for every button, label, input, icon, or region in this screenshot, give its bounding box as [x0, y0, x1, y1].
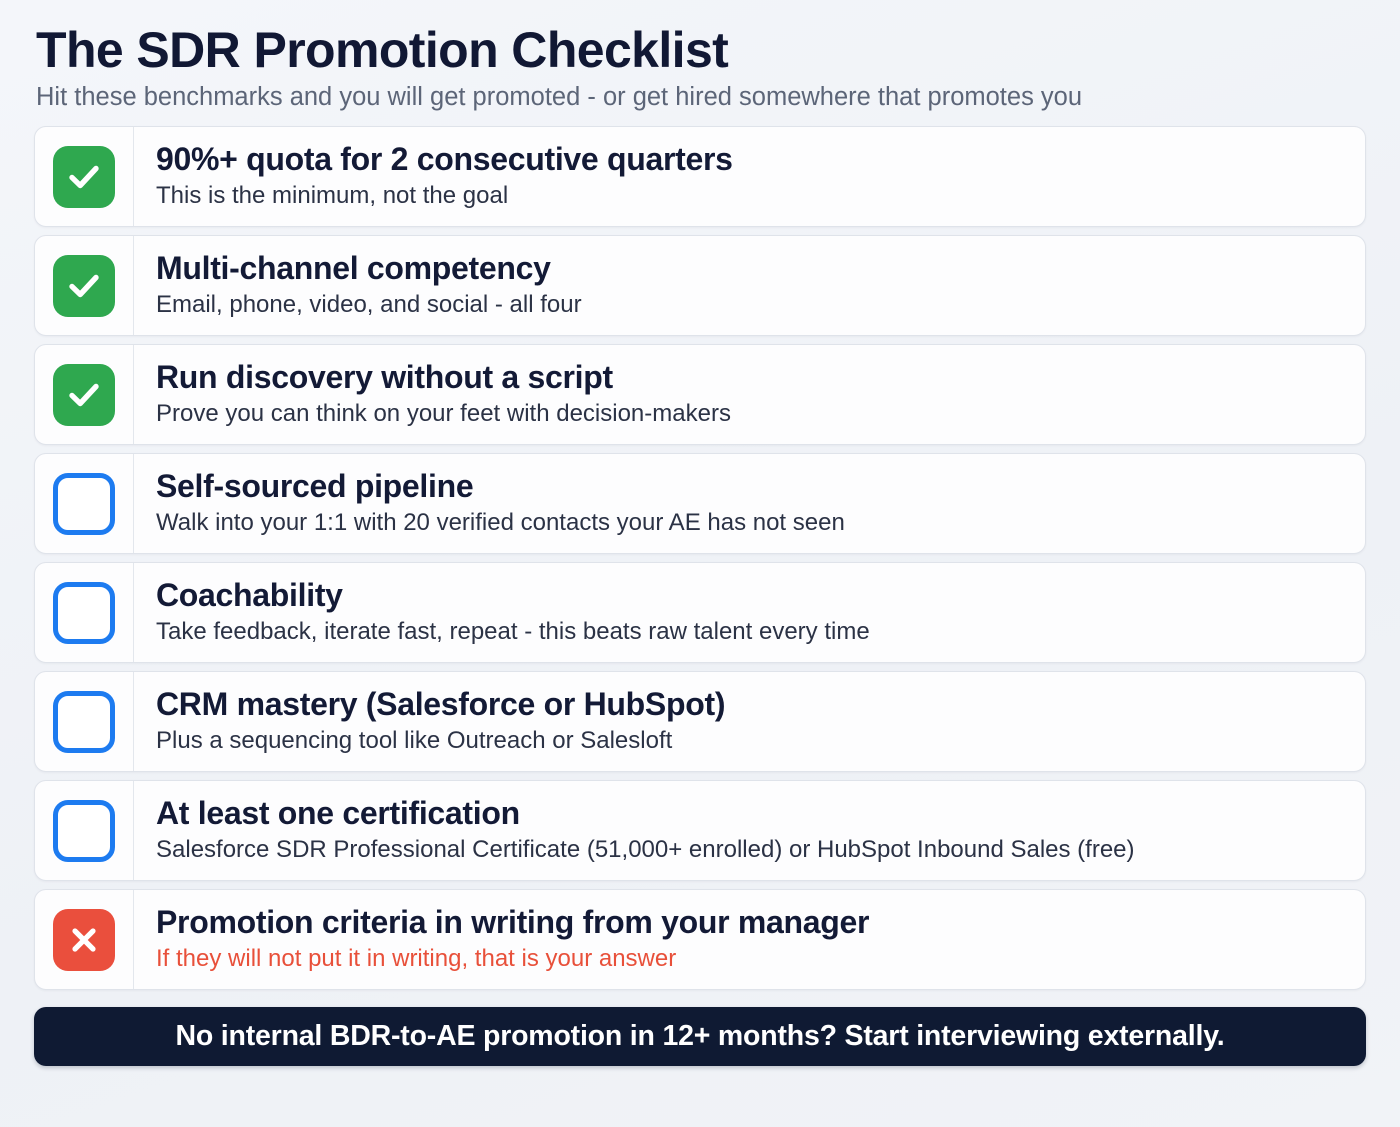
checklist-item[interactable]: 90%+ quota for 2 consecutive quartersThi…	[34, 126, 1366, 227]
checklist-page: The SDR Promotion Checklist Hit these be…	[0, 0, 1400, 1127]
checklist-item-title: 90%+ quota for 2 consecutive quarters	[156, 142, 1347, 178]
checklist-item-text: At least one certificationSalesforce SDR…	[134, 781, 1365, 880]
checkmark-icon[interactable]	[53, 146, 115, 208]
page-title: The SDR Promotion Checklist	[36, 24, 1364, 77]
footer-banner: No internal BDR-to-AE promotion in 12+ m…	[34, 1007, 1366, 1066]
checklist-item[interactable]: Promotion criteria in writing from your …	[34, 889, 1366, 990]
empty-checkbox-icon[interactable]	[53, 473, 115, 535]
checklist-item[interactable]: Multi-channel competencyEmail, phone, vi…	[34, 235, 1366, 336]
checklist-item-text: Self-sourced pipelineWalk into your 1:1 …	[134, 454, 1365, 553]
checklist-item-subtitle: This is the minimum, not the goal	[156, 182, 1347, 211]
checklist-item-subtitle: Plus a sequencing tool like Outreach or …	[156, 727, 1347, 756]
checkbox-cell[interactable]	[35, 127, 134, 226]
checklist-item-text: Multi-channel competencyEmail, phone, vi…	[134, 236, 1365, 335]
checklist-item-subtitle: Walk into your 1:1 with 20 verified cont…	[156, 509, 1347, 538]
empty-checkbox-icon[interactable]	[53, 691, 115, 753]
checklist-item[interactable]: At least one certificationSalesforce SDR…	[34, 780, 1366, 881]
checklist-item-text: 90%+ quota for 2 consecutive quartersThi…	[134, 127, 1365, 226]
checklist-item-title: At least one certification	[156, 796, 1347, 832]
checkbox-cell[interactable]	[35, 672, 134, 771]
checklist-item[interactable]: Self-sourced pipelineWalk into your 1:1 …	[34, 453, 1366, 554]
checklist-item[interactable]: CoachabilityTake feedback, iterate fast,…	[34, 562, 1366, 663]
checklist-item-title: CRM mastery (Salesforce or HubSpot)	[156, 687, 1347, 723]
checklist-item[interactable]: CRM mastery (Salesforce or HubSpot)Plus …	[34, 671, 1366, 772]
checklist-item-subtitle: Prove you can think on your feet with de…	[156, 400, 1347, 429]
checklist-item-text: CoachabilityTake feedback, iterate fast,…	[134, 563, 1365, 662]
checkbox-cell[interactable]	[35, 345, 134, 444]
checkbox-cell[interactable]	[35, 890, 134, 989]
cross-icon[interactable]	[53, 909, 115, 971]
page-subtitle: Hit these benchmarks and you will get pr…	[36, 83, 1364, 111]
checklist-item-text: CRM mastery (Salesforce or HubSpot)Plus …	[134, 672, 1365, 771]
checklist-item-text: Promotion criteria in writing from your …	[134, 890, 1365, 989]
checklist-item-subtitle: If they will not put it in writing, that…	[156, 945, 1347, 974]
checklist-item-text: Run discovery without a scriptProve you …	[134, 345, 1365, 444]
checklist-items: 90%+ quota for 2 consecutive quartersThi…	[34, 126, 1366, 990]
checklist-item-subtitle: Salesforce SDR Professional Certificate …	[156, 836, 1347, 865]
empty-checkbox-icon[interactable]	[53, 582, 115, 644]
checkmark-icon[interactable]	[53, 255, 115, 317]
empty-checkbox-icon[interactable]	[53, 800, 115, 862]
checklist-item[interactable]: Run discovery without a scriptProve you …	[34, 344, 1366, 445]
page-header: The SDR Promotion Checklist Hit these be…	[34, 24, 1366, 111]
checklist-item-subtitle: Email, phone, video, and social - all fo…	[156, 291, 1347, 320]
footer-banner-text: No internal BDR-to-AE promotion in 12+ m…	[176, 1020, 1225, 1053]
checkmark-icon[interactable]	[53, 364, 115, 426]
checkbox-cell[interactable]	[35, 781, 134, 880]
checklist-item-subtitle: Take feedback, iterate fast, repeat - th…	[156, 618, 1347, 647]
checklist-item-title: Run discovery without a script	[156, 360, 1347, 396]
checklist-item-title: Self-sourced pipeline	[156, 469, 1347, 505]
checkbox-cell[interactable]	[35, 563, 134, 662]
checklist-item-title: Promotion criteria in writing from your …	[156, 905, 1347, 941]
checkbox-cell[interactable]	[35, 454, 134, 553]
checkbox-cell[interactable]	[35, 236, 134, 335]
checklist-item-title: Coachability	[156, 578, 1347, 614]
checklist-item-title: Multi-channel competency	[156, 251, 1347, 287]
